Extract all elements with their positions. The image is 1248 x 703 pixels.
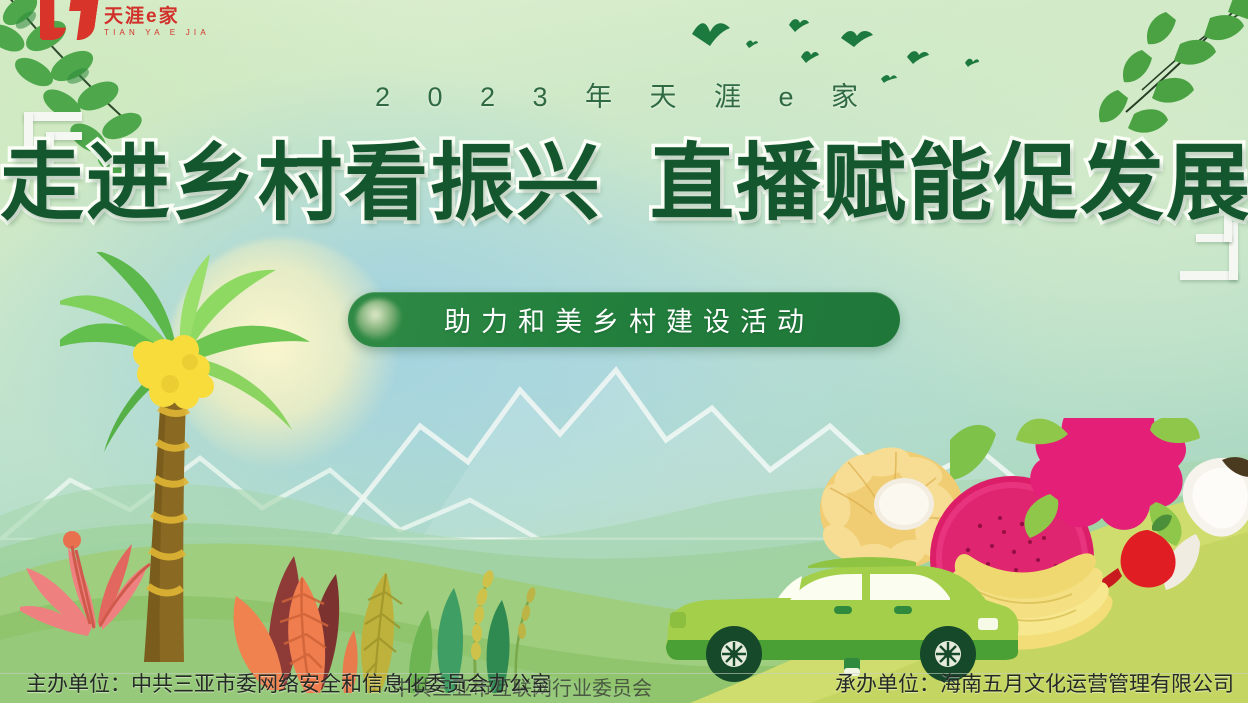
subtitle-pill: 助力和美乡村建设活动 (348, 292, 900, 347)
bird-icon (745, 38, 759, 49)
footer-undertaker: 承办单位：海南五月文化运营管理有限公司 (835, 668, 1234, 698)
logo-text-block: 天涯e家 TIAN YA E JIA (104, 7, 210, 40)
footer-organizer: 主办单位：中共三亚市委网络安全和信息化委员会办公室 (26, 668, 551, 698)
brand-logo[interactable]: 天涯e家 TIAN YA E JIA (40, 0, 210, 40)
footer-undertaker-value: 海南五月文化运营管理有限公司 (940, 672, 1234, 696)
bird-icon (800, 48, 820, 64)
logo-pinyin: TIAN YA E JIA (104, 29, 210, 37)
footer-caption-bar: 主办单位：中共三亚市委网络安全和信息化委员会办公室 承办单位：海南五月文化运营管… (0, 663, 1248, 703)
bird-icon (906, 48, 930, 65)
logo-shape-right (65, 0, 99, 40)
eyebrow-text: 2 0 2 3 年 天 涯 e 家 (0, 75, 1248, 114)
bird-icon (964, 56, 980, 68)
footer-organizer-value: 中共三亚市委网络安全和信息化委员会办公室 (131, 672, 551, 696)
bird-icon (690, 18, 732, 48)
poster-canvas: 2 0 2 3 年 天 涯 e 家 走进乡村看振兴直播赋能促发展 助力和美乡村建… (0, 0, 1248, 703)
tianyaejia-logo-mark-icon (40, 0, 98, 40)
logo-chinese-name: 天涯e家 (104, 7, 210, 26)
bird-icon (840, 26, 874, 48)
footer-organizer-label: 主办单位： (26, 672, 131, 696)
logo-shape-left (40, 0, 66, 40)
headline-left: 走进乡村看振兴 (0, 134, 602, 232)
bird-icon (788, 16, 810, 33)
headline-right: 直播赋能促发展 (650, 134, 1248, 232)
footer-undertaker-label: 承办单位： (835, 672, 940, 696)
dragon-fruit-whole (1016, 418, 1200, 546)
page-title: 走进乡村看振兴直播赋能促发展 (0, 116, 1248, 237)
subtitle-pill-label: 助力和美乡村建设活动 (434, 300, 814, 339)
